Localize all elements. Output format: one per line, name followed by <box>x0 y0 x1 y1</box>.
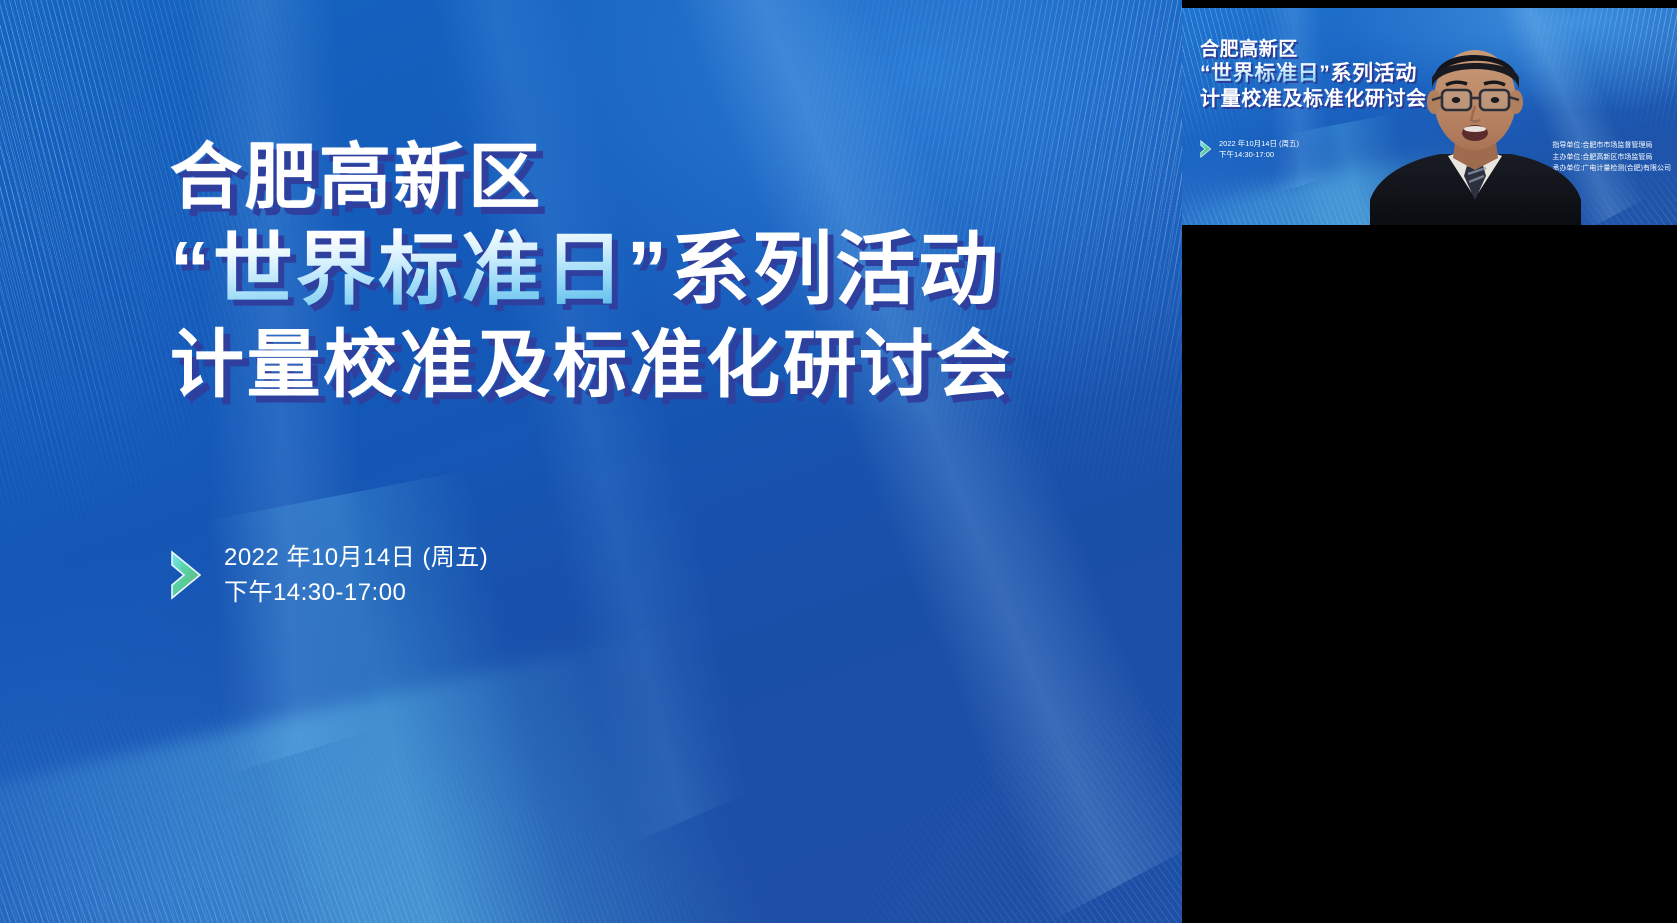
video-slide-date-time-block: 2022 年10月14日 (周五) 下午14:30-17:00 <box>1200 138 1299 161</box>
video-date-time-lines: 2022 年10月14日 (周五) 下午14:30-17:00 <box>1219 138 1299 161</box>
headline-highlight-text: 世界标准日 <box>213 225 627 314</box>
video-headline-highlight-text: 世界标准日 <box>1211 62 1319 85</box>
headline-line-2: “世界标准日”系列活动 <box>170 229 1150 311</box>
video-panel-column: 合肥高新区 “世界标准日”系列活动 计量校准及标准化研讨会 <box>1182 0 1677 923</box>
close-quote-glyph: ” <box>627 225 670 314</box>
headline-line-2-suffix: 系列活动 <box>670 225 1001 314</box>
open-quote-glyph: “ <box>1200 62 1211 85</box>
video-event-time: 下午14:30-17:00 <box>1219 149 1299 160</box>
close-quote-glyph: ” <box>1319 62 1330 85</box>
decorative-wireline-pattern <box>417 466 1182 923</box>
decorative-wireline-pattern <box>0 524 1061 923</box>
decorative-wireline-pattern <box>0 569 891 923</box>
slide-date-time-block: 2022 年10月14日 (周五) 下午14:30-17:00 <box>170 543 488 608</box>
shared-presentation-slide: 合肥高新区 “世界标准日”系列活动 计量校准及标准化研讨会 <box>0 0 1182 923</box>
headline-line-1: 合肥高新区 <box>170 142 1150 215</box>
headline-line-3: 计量校准及标准化研讨会 <box>170 327 1150 402</box>
speaker-on-camera <box>1368 48 1583 225</box>
decorative-light-sheet <box>0 407 961 923</box>
decorative-light-sheet <box>4 0 1071 910</box>
speaker-video-tile[interactable]: 合肥高新区 “世界标准日”系列活动 计量校准及标准化研讨会 <box>1182 8 1677 225</box>
chevron-right-gradient-icon <box>1200 140 1213 158</box>
chevron-right-gradient-icon <box>170 550 206 600</box>
open-quote-glyph: “ <box>170 225 213 314</box>
decorative-light-sheet <box>0 0 771 823</box>
screen-share-viewport: 合肥高新区 “世界标准日”系列活动 计量校准及标准化研讨会 <box>0 0 1677 923</box>
decorative-cyan-ribbon <box>0 610 834 923</box>
date-time-lines: 2022 年10月14日 (周五) 下午14:30-17:00 <box>224 543 488 608</box>
event-time: 下午14:30-17:00 <box>224 578 488 607</box>
slide-headline: 合肥高新区 “世界标准日”系列活动 计量校准及标准化研讨会 <box>170 142 1150 403</box>
event-date: 2022 年10月14日 (周五) <box>224 543 488 572</box>
video-event-date: 2022 年10月14日 (周五) <box>1219 138 1299 149</box>
